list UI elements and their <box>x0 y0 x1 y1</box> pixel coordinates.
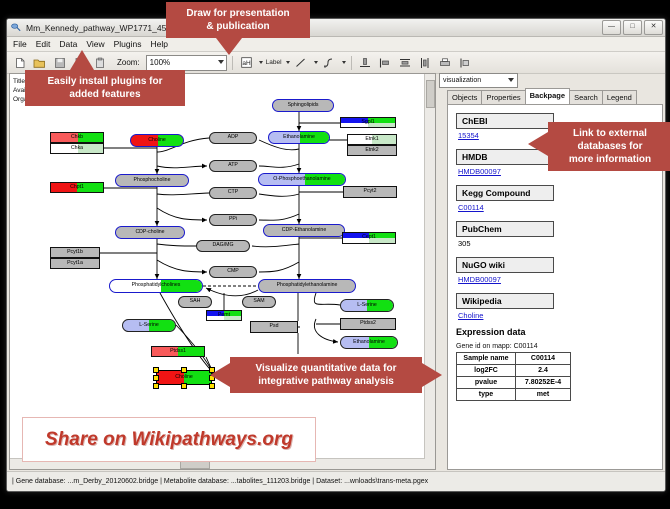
node-label: Chkb <box>71 135 83 140</box>
chevron-down-icon[interactable] <box>286 61 290 64</box>
metabolite-node[interactable]: Phosphatidylcholines <box>109 279 203 293</box>
node-label: Psd <box>270 324 279 329</box>
node-label: PPi <box>229 217 237 222</box>
visualization-combo[interactable]: visualization <box>439 73 518 88</box>
gene-node[interactable]: Etnk2 <box>347 145 397 156</box>
close-button[interactable]: ✕ <box>644 20 663 35</box>
visualization-value: visualization <box>443 77 481 84</box>
save-icon[interactable] <box>51 54 68 71</box>
scrollbar-thumb[interactable] <box>426 80 435 108</box>
callout-line-1: Draw for presentation <box>174 7 302 20</box>
menu-item-view[interactable]: View <box>86 39 104 49</box>
menu-item-edit[interactable]: Edit <box>36 39 51 49</box>
expr-key: pvalue <box>457 377 516 389</box>
backpage-tabs: Objects Properties Backpage Search Legen… <box>447 91 663 104</box>
node-label: Chka <box>71 146 83 151</box>
callout-pointer-down <box>216 38 242 55</box>
title-bar: Mm_Kennedy_pathway_WP1771_45176.gpml — □… <box>7 19 665 37</box>
order-icon[interactable] <box>457 54 474 71</box>
expr-value: 2.4 <box>516 365 571 377</box>
db-value-pubchem: 305 <box>458 239 662 248</box>
db-header-wikipedia: Wikipedia <box>456 293 554 309</box>
callout-line-2: databases for <box>556 140 664 153</box>
gene-node[interactable]: Ptdss1 <box>151 346 205 357</box>
chevron-down-icon[interactable] <box>314 61 318 64</box>
node-label: Etnk1 <box>365 137 378 142</box>
status-text: | Gene database: ...m_Derby_20120602.bri… <box>12 478 428 485</box>
node-label: Phosphatidylethanolamine <box>277 283 338 288</box>
metabolite-node[interactable]: CDP-Ethanolamine <box>263 224 345 237</box>
callout-line-3: more information <box>556 153 664 166</box>
node-label: Sphingolipids <box>288 103 319 108</box>
minimize-button[interactable]: — <box>602 20 621 35</box>
node-label: Ptdss2 <box>360 321 376 326</box>
db-link-wikipedia[interactable]: Choline <box>458 311 662 320</box>
resize-handle-n[interactable] <box>181 367 187 373</box>
expr-value: 7.80252E-4 <box>516 377 571 389</box>
align-bottom-icon[interactable] <box>357 54 374 71</box>
metabolite-node[interactable]: ATP <box>209 160 257 172</box>
expr-value: C00114 <box>516 353 571 365</box>
callout-plugins: Easily install plugins for added feature… <box>25 70 185 106</box>
node-label: Pcyt1b <box>67 250 83 255</box>
tab-legend[interactable]: Legend <box>602 90 637 104</box>
db-header-kegg: Kegg Compound <box>456 185 554 201</box>
zoom-combo[interactable]: 100% <box>146 55 227 71</box>
zoom-value: 100% <box>150 58 170 67</box>
connector-tool-icon[interactable] <box>321 54 338 71</box>
metabolite-node[interactable]: L-Serine <box>122 319 176 332</box>
callout-pointer-left <box>210 363 230 387</box>
maximize-button[interactable]: □ <box>623 20 642 35</box>
node-label: Chpt1 <box>70 185 84 190</box>
callout-line-2: & publication <box>174 20 302 33</box>
open-folder-icon[interactable] <box>31 54 48 71</box>
callout-line-2: integrative pathway analysis <box>238 375 414 388</box>
toolbar-separator <box>351 56 352 70</box>
app-icon <box>11 22 22 33</box>
gene-node[interactable]: Pcyt1a <box>50 258 100 269</box>
expr-key: type <box>457 389 516 401</box>
node-label: CTP <box>228 190 238 195</box>
node-label: DAG/MG <box>212 243 233 248</box>
metabolite-node[interactable]: PPi <box>209 214 257 226</box>
node-label: Phosphocholine <box>134 178 171 183</box>
resize-handle-w[interactable] <box>153 375 159 381</box>
gene-node[interactable]: Ptdss2 <box>340 318 396 330</box>
node-label: Cept1 <box>362 235 376 240</box>
table-row: pvalue 7.80252E-4 <box>457 377 571 389</box>
gene-node[interactable]: Chkb <box>50 132 104 143</box>
screenshot-root: Mm_Kennedy_pathway_WP1771_45176.gpml — □… <box>0 0 670 509</box>
label-tool-label[interactable]: Label <box>266 59 282 66</box>
new-file-icon[interactable] <box>11 54 28 71</box>
gene-node[interactable]: Pcyt1b <box>50 247 100 258</box>
db-header-pubchem: PubChem <box>456 221 554 237</box>
node-label: CDP-choline <box>135 230 164 235</box>
metabolite-node[interactable]: SAH <box>178 296 212 308</box>
table-row: type met <box>457 389 571 401</box>
pathway-canvas[interactable]: Title: Availa Organ <box>9 73 436 470</box>
gene-node[interactable]: Sgpl1 <box>340 117 396 128</box>
node-label: Choline <box>148 138 166 143</box>
gene-node[interactable]: Cept1 <box>342 232 396 244</box>
tab-search[interactable]: Search <box>569 90 603 104</box>
gene-id-on-mapp: Gene id on mapp: C00114 <box>456 343 662 350</box>
canvas-vscrollbar[interactable] <box>424 74 435 459</box>
text-tool-icon[interactable]: aH <box>238 54 255 71</box>
callout-draw: Draw for presentation & publication <box>166 2 310 38</box>
node-label: L-Serine <box>139 323 159 328</box>
db-header-chebi: ChEBI <box>456 113 554 129</box>
print-icon[interactable] <box>437 54 454 71</box>
db-link-kegg[interactable]: C00114 <box>458 203 662 212</box>
node-label: Pcyt1a <box>67 261 83 266</box>
distribute-horizontal-icon[interactable] <box>417 54 434 71</box>
callout-visualize: Visualize quantitative data for integrat… <box>230 357 422 393</box>
node-label: Sgpl1 <box>361 120 374 125</box>
node-label: O-Phosphoethanolamine <box>273 177 330 182</box>
table-row: Sample name C00114 <box>457 353 571 365</box>
resize-handle-sw[interactable] <box>153 383 159 389</box>
tab-objects[interactable]: Objects <box>447 90 482 104</box>
chevron-down-icon[interactable] <box>218 60 224 64</box>
node-label: L-Serine <box>357 303 377 308</box>
metabolite-node[interactable]: Ethanolamine <box>268 131 330 144</box>
metabolite-node[interactable]: Phosphocholine <box>115 174 189 187</box>
node-label: Etnk2 <box>365 148 378 153</box>
metabolite-node[interactable]: CMP <box>209 266 257 278</box>
expression-table: Sample name C00114 log2FC 2.4 pvalue 7.8… <box>456 352 571 401</box>
chevron-down-icon[interactable] <box>508 78 514 82</box>
window-buttons: — □ ✕ <box>602 20 663 35</box>
callout-share: Share on Wikipathways.org <box>22 417 316 462</box>
node-label: CMP <box>227 269 239 274</box>
node-label: Pemt <box>218 313 230 318</box>
metabolite-node[interactable]: Choline <box>130 134 184 147</box>
zoom-label: Zoom: <box>117 58 140 67</box>
metabolite-node[interactable]: L-Serine <box>340 299 394 312</box>
line-tool-icon[interactable] <box>293 54 310 71</box>
db-header-nugo-wiki: NuGO wiki <box>456 257 554 273</box>
metabolite-node[interactable]: CTP <box>209 187 257 199</box>
align-left-icon[interactable] <box>377 54 394 71</box>
node-label: Ptdss1 <box>170 349 186 354</box>
callout-links: Link to external databases for more info… <box>548 122 670 171</box>
node-label: ATP <box>228 163 238 168</box>
node-label: SAM <box>253 299 264 304</box>
menu-item-plugins[interactable]: Plugins <box>114 39 142 49</box>
node-label: Ethanolamine <box>283 135 315 140</box>
metabolite-node[interactable]: Phosphatidylethanolamine <box>258 279 356 293</box>
distribute-vertical-icon[interactable] <box>397 54 414 71</box>
menu-bar: File Edit Data View Plugins Help <box>7 37 665 52</box>
gene-node[interactable]: Pemt <box>206 310 242 321</box>
metabolite-node[interactable]: Ethanolamine <box>340 336 398 349</box>
toolbar-separator <box>232 56 233 70</box>
metabolite-node[interactable]: DAG/MG <box>196 240 250 252</box>
metabolite-node[interactable]: ADP <box>209 132 257 144</box>
node-label: Ethanolamine <box>353 340 385 345</box>
callout-line-1: Visualize quantitative data for <box>238 362 414 375</box>
metabolite-node[interactable]: CDP-choline <box>115 226 185 239</box>
resize-handle-s[interactable] <box>181 383 187 389</box>
expr-value: met <box>516 389 571 401</box>
metabolite-node[interactable]: Sphingolipids <box>272 99 334 112</box>
gene-node[interactable]: Chpt1 <box>50 182 104 193</box>
table-row: log2FC 2.4 <box>457 365 571 377</box>
callout-pointer-right <box>422 363 442 387</box>
node-label: SAH <box>190 299 201 304</box>
tab-properties[interactable]: Properties <box>481 90 525 104</box>
gene-node[interactable]: Etnk1 <box>347 134 397 145</box>
node-label: Phosphatidylcholines <box>132 283 181 288</box>
gene-node[interactable]: Pcyt2 <box>343 186 397 198</box>
node-label: ADP <box>228 135 239 140</box>
svg-text:aH: aH <box>242 60 251 67</box>
menu-item-help[interactable]: Help <box>151 39 168 49</box>
status-bar: | Gene database: ...m_Derby_20120602.bri… <box>7 471 665 491</box>
expression-data-heading: Expression data <box>456 327 662 337</box>
callout-line-1: Link to external <box>556 127 664 140</box>
expr-key: log2FC <box>457 365 516 377</box>
callout-pointer-left <box>528 132 548 156</box>
callout-line-1: Easily install plugins for <box>33 75 177 88</box>
node-label: CDP-Ethanolamine <box>282 228 326 233</box>
node-label: Pcyt2 <box>364 189 377 194</box>
db-link-nugo-wiki[interactable]: HMDB00097 <box>458 275 662 284</box>
chevron-down-icon[interactable] <box>342 61 346 64</box>
metabolite-node[interactable]: SAM <box>242 296 276 308</box>
expr-key: Sample name <box>457 353 516 365</box>
menu-item-data[interactable]: Data <box>59 39 77 49</box>
chevron-down-icon[interactable] <box>259 61 263 64</box>
metabolite-node[interactable]: O-Phosphoethanolamine <box>258 173 346 186</box>
callout-pointer-up <box>70 50 94 70</box>
callout-line-2: added features <box>33 88 177 101</box>
share-text: Share on Wikipathways.org <box>45 429 293 451</box>
tab-backpage[interactable]: Backpage <box>525 88 570 104</box>
gene-node[interactable]: Psd <box>250 321 298 333</box>
menu-item-file[interactable]: File <box>13 39 27 49</box>
resize-handle-nw[interactable] <box>153 367 159 373</box>
node-label: Choline <box>175 375 193 380</box>
gene-node[interactable]: Chka <box>50 143 104 154</box>
